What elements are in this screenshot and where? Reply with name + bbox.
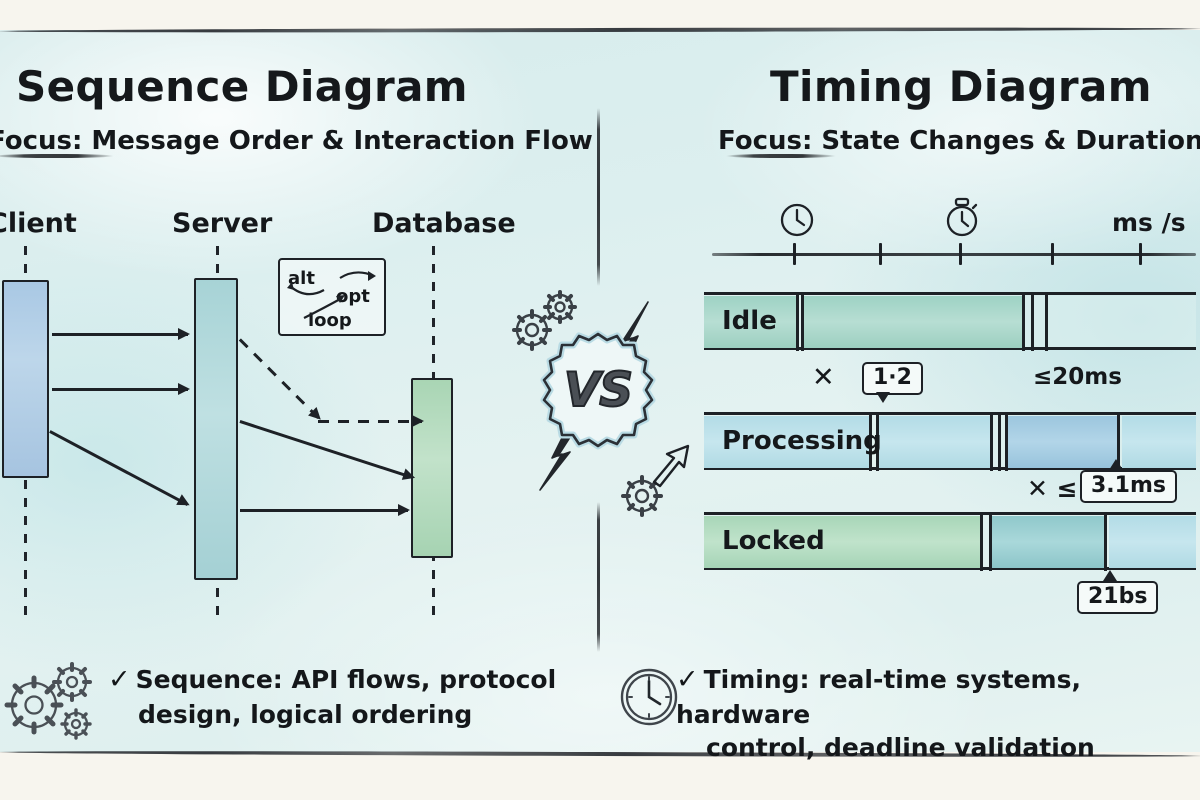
subtitle-underline-left — [0, 154, 114, 158]
timeline-tick — [793, 243, 796, 265]
message-arrow-1 — [52, 333, 188, 336]
infographic-canvas: Sequence Diagram Timing Diagram Focus: M… — [0, 0, 1200, 800]
callout-tail — [1103, 570, 1117, 581]
timeline-axis — [712, 253, 1196, 256]
lane-segment — [1109, 516, 1196, 568]
timing-lane-locked: Locked — [704, 512, 1196, 570]
footer-note-sequence: ✓Sequence: API flows, protocol design, l… — [108, 662, 578, 731]
subtitle-underline-right — [726, 154, 836, 158]
actor-label-database: Database — [372, 208, 516, 239]
lane-segment — [804, 296, 1022, 348]
footer-line-2: design, logical ordering — [108, 698, 578, 731]
footer-line-2: control, deadline validation — [676, 731, 1200, 764]
lane-transition-edge — [998, 413, 1001, 471]
check-icon: ✓ — [676, 664, 699, 695]
lane-transition-edge — [796, 293, 799, 351]
footer-line-1: Timing: real-time systems, hardware — [676, 665, 1081, 729]
annotation-x-le: ✕ ≤ — [1027, 474, 1078, 503]
lane-segment — [991, 516, 1104, 568]
x-mark-icon: ✕ — [812, 362, 835, 393]
lane-transition-edge — [1031, 293, 1034, 351]
callout-tail — [1109, 459, 1123, 470]
footer-line-1: Sequence: API flows, protocol — [136, 665, 557, 694]
fragment-box: alt opt loop — [278, 258, 386, 336]
actor-label-client: Client — [0, 208, 77, 239]
callout-1-2: 1·2 — [862, 362, 923, 395]
footer-note-timing: ✓Timing: real-time systems, hardware con… — [676, 662, 1200, 764]
page-title-sequence: Sequence Diagram — [16, 62, 468, 111]
timeline-tick — [879, 243, 882, 265]
clock-icon — [618, 666, 680, 728]
lane-transition-edge — [980, 513, 983, 571]
timeline-tick — [959, 243, 962, 265]
subtitle-sequence: Focus: Message Order & Interaction Flow — [0, 126, 593, 156]
message-arrow-2 — [52, 388, 188, 391]
page-title-timing: Timing Diagram — [770, 62, 1152, 111]
vs-label: VS — [538, 330, 658, 450]
activation-bar-client — [2, 280, 49, 478]
activation-bar-server — [194, 278, 238, 580]
lane-segment — [1007, 416, 1117, 468]
lane-transition-edge — [1045, 293, 1048, 351]
subtitle-timing: Focus: State Changes & Duration — [718, 126, 1200, 156]
message-arrow-5 — [240, 509, 408, 512]
lane-segment — [1122, 416, 1196, 468]
activation-bar-database — [411, 378, 453, 558]
check-icon: ✓ — [108, 664, 131, 695]
lane-label-idle: Idle — [722, 306, 777, 336]
lane-transition-edge — [990, 413, 993, 471]
lane-transition-edge — [1104, 513, 1107, 571]
lane-label-processing: Processing — [722, 426, 882, 456]
lane-transition-edge — [801, 293, 804, 351]
lane-transition-edge — [1022, 293, 1025, 351]
actor-label-server: Server — [172, 208, 272, 239]
annotation-20ms: ≤20ms — [1033, 364, 1122, 390]
timeline-tick — [1139, 243, 1142, 265]
callout-tail — [876, 392, 890, 403]
callout-21bs: 21bs — [1077, 581, 1158, 614]
timeline-tick — [1051, 243, 1054, 265]
return-arrow-2 — [318, 420, 422, 423]
gears-icon — [0, 658, 104, 750]
timeline-unit-label: ms /s — [1112, 208, 1186, 237]
center-divider-lower — [597, 502, 600, 652]
timing-lane-idle: Idle — [704, 292, 1196, 350]
lane-transition-edge — [989, 513, 992, 571]
stopwatch-icon — [942, 196, 982, 240]
clock-icon — [778, 201, 816, 239]
lane-segment — [878, 416, 990, 468]
vs-badge: VS — [538, 330, 658, 450]
lane-label-locked: Locked — [722, 526, 825, 556]
center-divider-upper — [597, 108, 600, 286]
fragment-arrows-icon — [280, 260, 388, 338]
callout-3-1ms: 3.1ms — [1080, 470, 1177, 503]
lane-transition-edge — [1005, 413, 1008, 471]
